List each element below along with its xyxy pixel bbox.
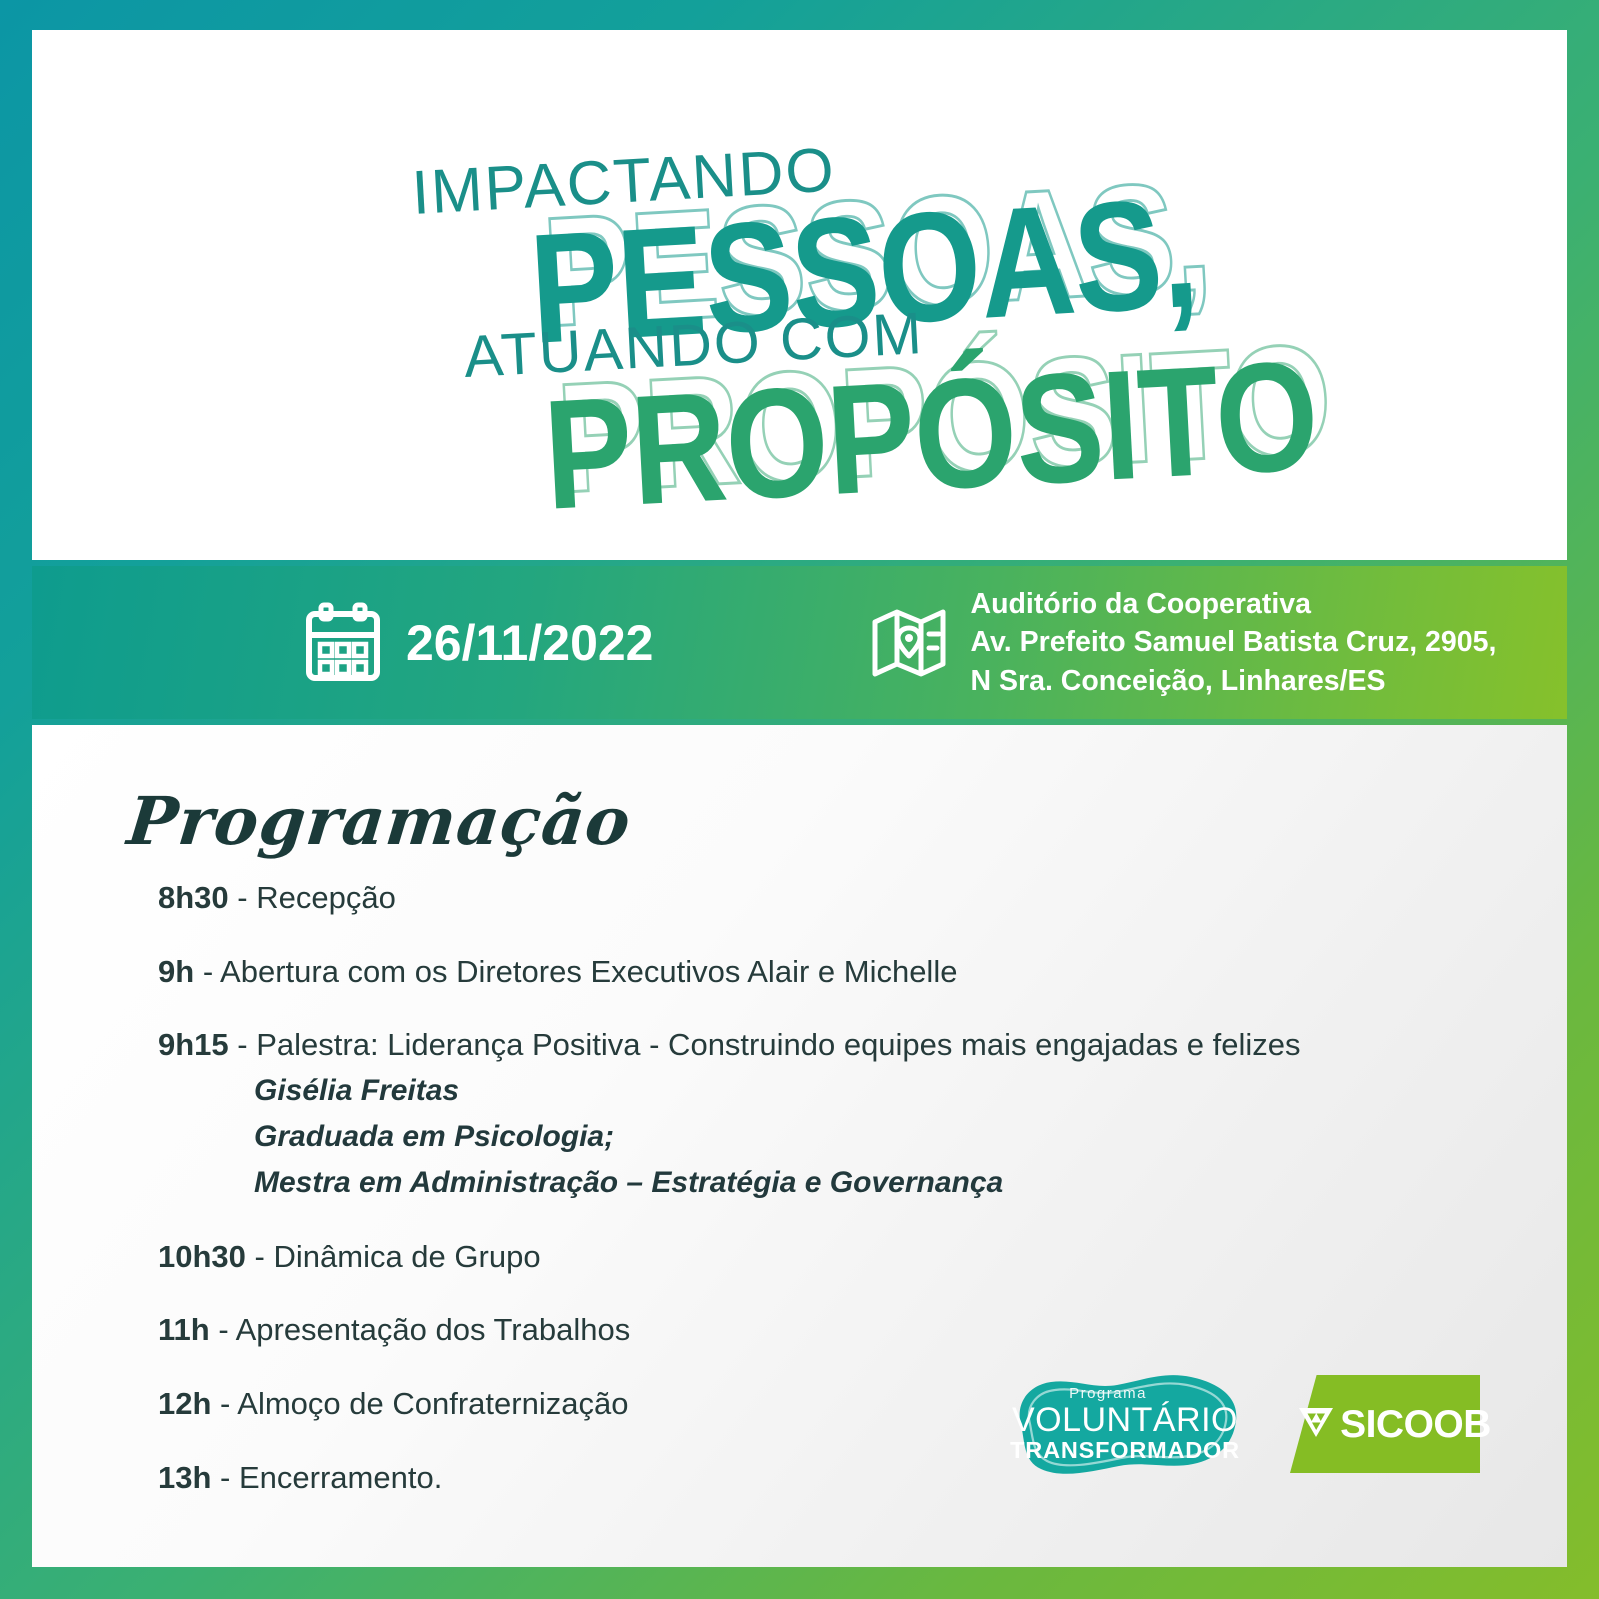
headline-group: IMPACTANDO PESSOAS, PESSOAS, ATUANDO COM… — [32, 30, 1567, 560]
program-title: Programação — [124, 782, 635, 860]
map-pin-icon — [869, 604, 949, 682]
logo-group: Programa VOLUNTÁRIO TRANSFORMADOR SICOOB — [1000, 1355, 1500, 1495]
event-location-text: Auditório da Cooperativa Av. Prefeito Sa… — [971, 585, 1497, 700]
schedule-separator: - — [237, 880, 247, 915]
venue-name: Auditório da Cooperativa — [971, 588, 1311, 620]
schedule-time: 12h — [158, 1386, 211, 1421]
schedule-separator: - — [255, 1239, 265, 1274]
sicoob-logo: SICOOB — [1290, 1375, 1480, 1473]
venue-address-line-1: Av. Prefeito Samuel Batista Cruz, 2905, — [971, 626, 1497, 658]
schedule-description: Recepção — [256, 880, 396, 915]
event-date-text: 26/11/2022 — [406, 614, 654, 672]
schedule-separator: - — [220, 1460, 230, 1495]
sicoob-logo-inner: SICOOB — [1290, 1375, 1480, 1473]
schedule-separator: - — [220, 1386, 230, 1421]
schedule-separator: - — [218, 1312, 228, 1347]
schedule-time: 10h30 — [158, 1239, 246, 1274]
schedule-item: 9h - Abertura com os Diretores Executivo… — [158, 952, 1418, 992]
hero-panel: IMPACTANDO PESSOAS, PESSOAS, ATUANDO COM… — [32, 30, 1567, 560]
schedule-time: 9h15 — [158, 1027, 229, 1062]
sicoob-triangle-icon — [1297, 1405, 1335, 1444]
voluntario-transformador-logo: Programa VOLUNTÁRIO TRANSFORMADOR — [1005, 1363, 1245, 1485]
schedule-item: 11h - Apresentação dos Trabalhos — [158, 1310, 1418, 1350]
schedule-item: 8h30 - Recepção — [158, 878, 1418, 918]
event-flyer: IMPACTANDO PESSOAS, PESSOAS, ATUANDO COM… — [0, 0, 1599, 1599]
schedule-description: Palestra: Liderança Positiva - Construin… — [256, 1027, 1300, 1062]
schedule-description: Encerramento. — [239, 1460, 442, 1495]
venue-address-line-2: N Sra. Conceição, Linhares/ES — [971, 665, 1386, 697]
event-date-block: 26/11/2022 — [304, 602, 654, 684]
speaker-credential-2: Mestra em Administração – Estratégia e G… — [254, 1163, 1418, 1203]
schedule-separator: - — [237, 1027, 247, 1062]
schedule-time: 9h — [158, 954, 194, 989]
schedule-item: 10h30 - Dinâmica de Grupo — [158, 1237, 1418, 1277]
headline-line-proposito: PROPÓSITO PROPÓSITO — [541, 338, 1320, 510]
headline-proposito-fill: PROPÓSITO — [541, 338, 1321, 534]
schedule-separator: - — [203, 954, 213, 989]
schedule-description: Abertura com os Diretores Executivos Ala… — [220, 954, 957, 989]
event-info-band: 26/11/2022 Auditório da Cooperativa Av. … — [32, 566, 1567, 719]
calendar-icon — [304, 602, 382, 684]
schedule-item: 9h15 - Palestra: Liderança Positiva - Co… — [158, 1025, 1418, 1202]
schedule-time: 8h30 — [158, 880, 229, 915]
schedule-time: 13h — [158, 1460, 211, 1495]
schedule-description: Almoço de Confraternização — [237, 1386, 628, 1421]
schedule-description: Dinâmica de Grupo — [273, 1239, 540, 1274]
speaker-credential-1: Graduada em Psicologia; — [254, 1117, 1418, 1157]
sicoob-wordmark: SICOOB — [1340, 1405, 1491, 1444]
schedule-time: 11h — [158, 1312, 210, 1347]
schedule-description: Apresentação dos Trabalhos — [236, 1312, 631, 1347]
speaker-name: Gisélia Freitas — [254, 1071, 1418, 1111]
event-location-block: Auditório da Cooperativa Av. Prefeito Sa… — [869, 585, 1497, 700]
